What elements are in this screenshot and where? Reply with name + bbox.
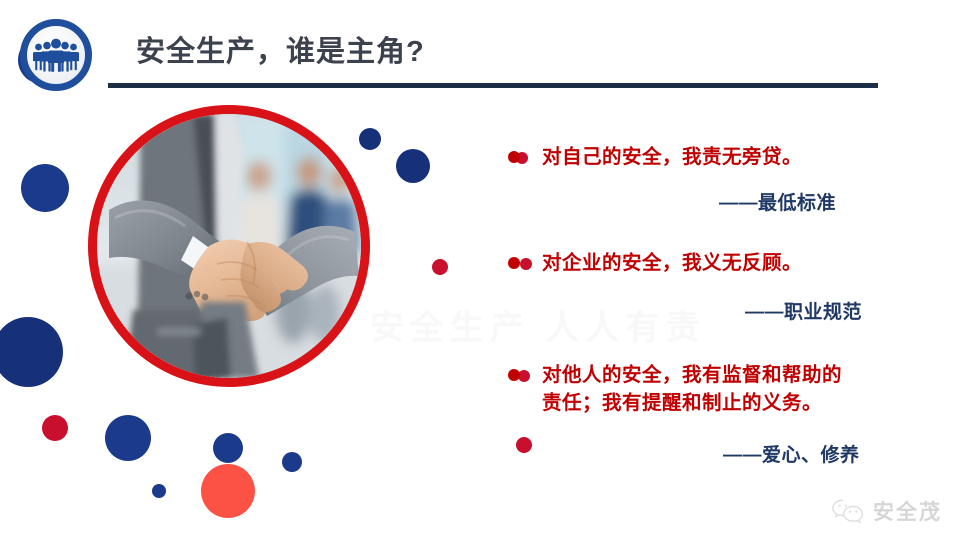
bullet-attribution-2: ——职业规范 bbox=[745, 297, 862, 324]
deco-circle-navy-8 bbox=[359, 128, 381, 150]
deco-circle-navy-2 bbox=[21, 164, 69, 212]
deco-circle-red-3 bbox=[516, 437, 532, 453]
slide-canvas: 安全生产 人人有责 安全生产，谁是主角? bbox=[0, 0, 960, 540]
deco-circle-navy-6 bbox=[213, 433, 243, 463]
bullet-item-1: 对自己的安全，我责无旁贷。 bbox=[508, 144, 908, 172]
wechat-icon bbox=[831, 497, 865, 525]
deco-circle-red-1 bbox=[42, 415, 68, 441]
title-divider bbox=[108, 83, 878, 88]
bullet-attribution-3: ——爱心、修养 bbox=[723, 440, 860, 467]
handshake-photo-image bbox=[97, 114, 361, 378]
handshake-photo bbox=[88, 105, 370, 387]
deco-circle-navy-4 bbox=[105, 415, 151, 461]
bullet-marker-2 bbox=[508, 257, 520, 269]
bullet-text-2: 对企业的安全，我义无反顾。 bbox=[542, 250, 908, 278]
watermark: 安全茂 bbox=[831, 496, 942, 526]
bullet-attribution-1: ——最低标准 bbox=[719, 188, 836, 215]
people-group-icon bbox=[20, 19, 92, 91]
bullet-item-3: 对他人的安全，我有监督和帮助的 责任；我有提醒和制止的义务。 bbox=[508, 362, 908, 417]
deco-circle-coral-1 bbox=[201, 464, 255, 518]
deco-circle-navy-5 bbox=[152, 484, 166, 498]
deco-circle-navy-3 bbox=[0, 317, 63, 387]
bullet-text-1: 对自己的安全，我责无旁贷。 bbox=[542, 144, 908, 172]
deco-circle-red-2 bbox=[432, 259, 448, 275]
page-title: 安全生产，谁是主角? bbox=[136, 28, 425, 70]
deco-circle-navy-9 bbox=[396, 149, 430, 183]
bullet-marker-1 bbox=[508, 151, 520, 163]
background-ghost-text: 安全生产 人人有责 bbox=[370, 300, 705, 349]
bullet-marker-3 bbox=[508, 369, 520, 381]
watermark-text: 安全茂 bbox=[873, 496, 942, 526]
deco-circle-navy-7 bbox=[282, 452, 302, 472]
bullet-item-2: 对企业的安全，我义无反顾。 bbox=[508, 250, 908, 278]
bullet-text-3: 对他人的安全，我有监督和帮助的 责任；我有提醒和制止的义务。 bbox=[542, 362, 908, 417]
